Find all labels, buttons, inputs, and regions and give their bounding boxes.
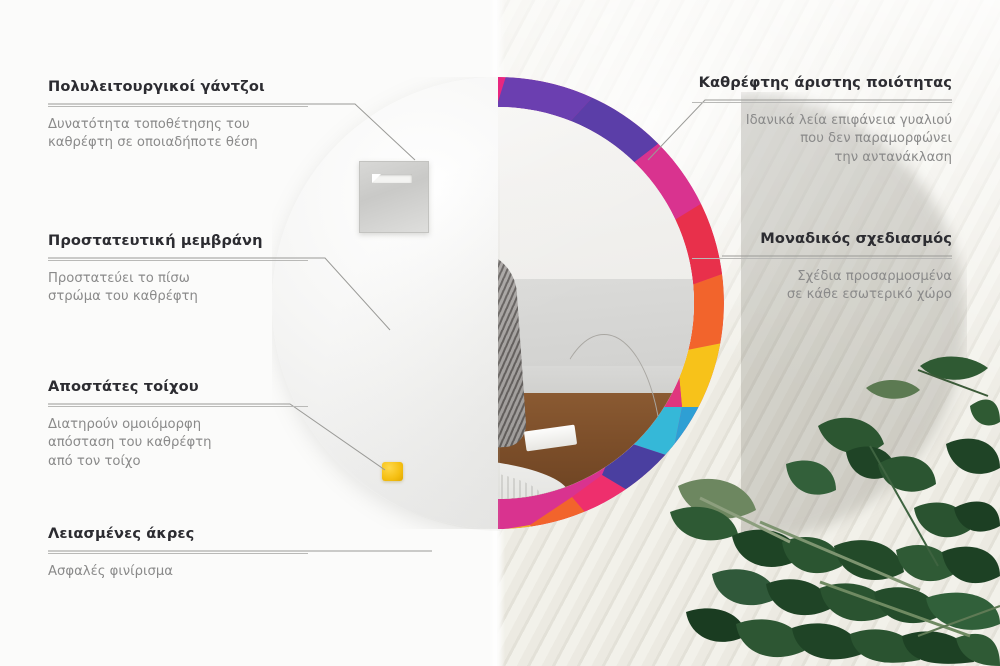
callout-title: Πολυλειτουργικοί γάντζοι: [48, 78, 308, 96]
callout-rule: [692, 258, 952, 259]
callout-title: Καθρέφτης άριστης ποιότητας: [692, 74, 952, 92]
callout-title: Προστατευτική μεμβράνη: [48, 232, 308, 250]
callout-rule: [692, 102, 952, 103]
hook-slot-icon: [372, 174, 412, 183]
callout-protective-membrane: Προστατευτική μεμβράνη Προστατεύει το πί…: [48, 232, 308, 307]
callout-description: Διατηρούν ομοιόμορφη απόσταση του καθρέφ…: [48, 416, 308, 472]
callout-wall-spacers: Αποστάτες τοίχου Διατηρούν ομοιόμορφη απ…: [48, 378, 308, 472]
callout-rule: [48, 260, 308, 261]
callout-title: Μοναδικός σχεδιασμός: [692, 230, 952, 248]
callout-rule: [48, 106, 308, 107]
callout-description: Ιδανικά λεία επιφάνεια γυαλιού που δεν π…: [692, 112, 952, 168]
callout-rule: [48, 406, 308, 407]
callout-description: Προστατεύει το πίσω στρώμα του καθρέφτη: [48, 270, 308, 307]
callout-rule: [48, 553, 308, 554]
callout-description: Ασφαλές φινίρισμα: [48, 563, 308, 582]
callout-description: Σχέδια προσαρμοσμένα σε κάθε εσωτερικό χ…: [692, 268, 952, 305]
callout-unique-design: Μοναδικός σχεδιασμός Σχέδια προσαρμοσμέν…: [692, 230, 952, 305]
hanging-plate: [359, 161, 429, 233]
callout-title: Λειασμένες άκρες: [48, 525, 308, 543]
foliage-decoration: [670, 336, 1000, 666]
callout-title: Αποστάτες τοίχου: [48, 378, 308, 396]
callout-smoothed-edges: Λειασμένες άκρες Ασφαλές φινίρισμα: [48, 525, 308, 581]
infographic-canvas: Πολυλειτουργικοί γάντζοι Δυνατότητα τοπο…: [0, 0, 1000, 666]
callout-description: Δυνατότητα τοποθέτησης του καθρέφτη σε ο…: [48, 116, 308, 153]
callout-top-quality-mirror: Καθρέφτης άριστης ποιότητας Ιδανικά λεία…: [692, 74, 952, 168]
wall-spacer-chip: [382, 462, 403, 481]
callout-multifunctional-hooks: Πολυλειτουργικοί γάντζοι Δυνατότητα τοπο…: [48, 78, 308, 153]
